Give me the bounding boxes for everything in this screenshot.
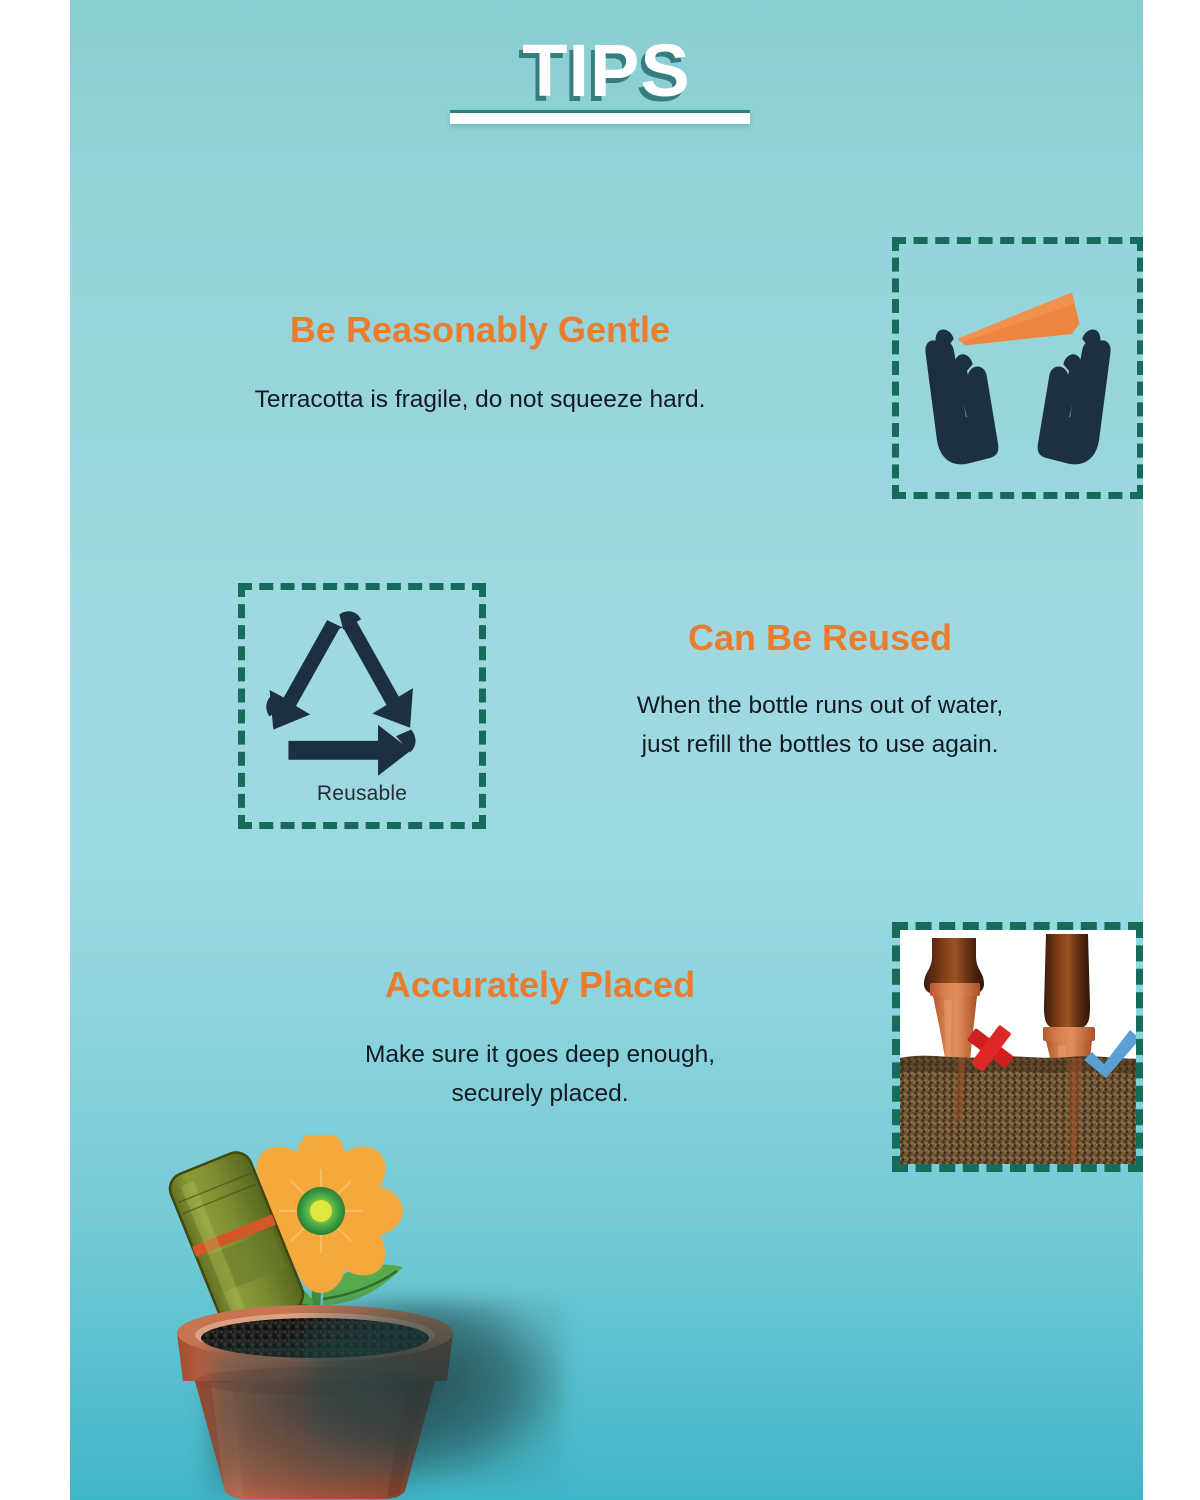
section-heading-placed: Accurately Placed bbox=[260, 965, 820, 1005]
spike-depth-comparison-photo bbox=[900, 930, 1136, 1164]
section-body-gentle-line-1: Terracotta is fragile, do not squeeze ha… bbox=[170, 380, 790, 420]
section-body-reused-line-2: just refill the bottles to use again. bbox=[540, 725, 1100, 765]
hands-holding-terracotta-spike-icon bbox=[899, 244, 1137, 492]
section-heading-reused: Can Be Reused bbox=[540, 618, 1100, 658]
section-accurately-placed-text: Accurately Placed Make sure it goes deep… bbox=[260, 965, 820, 1114]
footer-illustration bbox=[115, 1135, 575, 1500]
section-reused-icon-frame: Reusable bbox=[238, 583, 486, 829]
section-body-reused: When the bottle runs out of water, just … bbox=[540, 686, 1100, 765]
infographic-canvas: TIPS Be Reasonably Gentle Terracotta is … bbox=[70, 0, 1143, 1500]
spike-depth-diagram bbox=[900, 930, 1136, 1164]
section-body-placed-line-2: securely placed. bbox=[260, 1074, 820, 1114]
page-title: TIPS bbox=[522, 34, 690, 108]
section-be-reasonably-gentle-text: Be Reasonably Gentle Terracotta is fragi… bbox=[170, 310, 790, 419]
section-placed-photo-frame bbox=[892, 922, 1143, 1172]
section-body-placed: Make sure it goes deep enough, securely … bbox=[260, 1035, 820, 1114]
pot-shadow-far bbox=[305, 1300, 565, 1485]
section-body-placed-line-1: Make sure it goes deep enough, bbox=[260, 1035, 820, 1075]
section-heading-gentle: Be Reasonably Gentle bbox=[170, 310, 790, 350]
page-title-block: TIPS bbox=[70, 34, 1143, 108]
section-gentle-icon-frame bbox=[892, 237, 1143, 499]
section-can-be-reused-text: Can Be Reused When the bottle runs out o… bbox=[540, 618, 1100, 765]
section-body-reused-line-1: When the bottle runs out of water, bbox=[540, 686, 1100, 726]
title-underline-rule bbox=[450, 110, 750, 124]
icon-caption-reusable: Reusable bbox=[245, 782, 479, 806]
infographic-page: TIPS Be Reasonably Gentle Terracotta is … bbox=[0, 0, 1200, 1500]
